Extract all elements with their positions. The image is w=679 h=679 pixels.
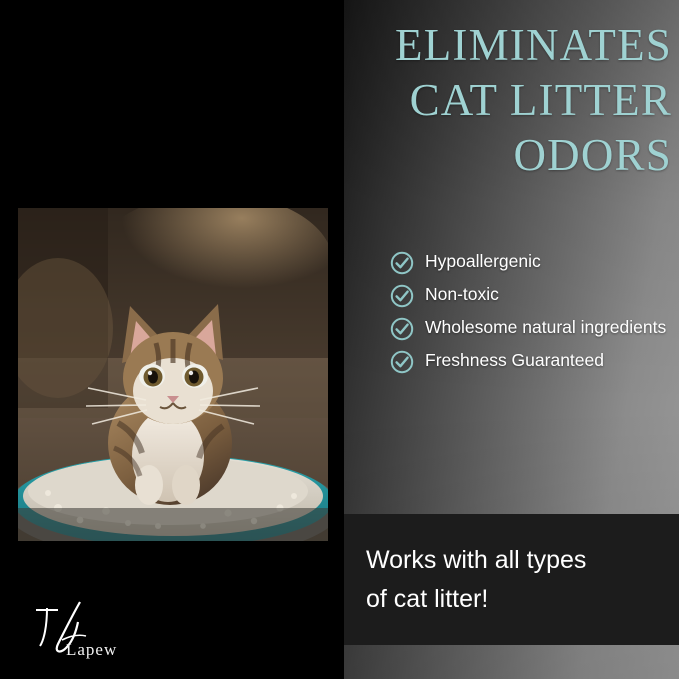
headline-line-1: ELIMINATES xyxy=(300,18,672,73)
advertisement-image: ELIMINATES CAT LITTER ODORS xyxy=(0,0,679,679)
check-circle-icon xyxy=(390,251,414,275)
kitten-photo xyxy=(18,208,328,541)
banner-text: Works with all types of cat litter! xyxy=(344,541,608,619)
list-item-label: Non-toxic xyxy=(425,283,499,306)
headline-line-3: ODORS xyxy=(300,128,672,183)
list-item: Wholesome natural ingredients xyxy=(390,316,670,341)
list-item-label: Freshness Guaranteed xyxy=(425,349,604,372)
banner-line-2: of cat litter! xyxy=(366,580,586,619)
check-circle-icon xyxy=(390,317,414,341)
check-circle-icon xyxy=(390,350,414,374)
list-item-label: Hypoallergenic xyxy=(425,250,541,273)
headline: ELIMINATES CAT LITTER ODORS xyxy=(300,18,672,183)
list-item-label: Wholesome natural ingredients xyxy=(425,316,666,339)
check-circle-icon xyxy=(390,284,414,308)
brand-logo: Lapew xyxy=(28,596,148,666)
bottom-banner: Works with all types of cat litter! xyxy=(344,514,679,645)
banner-line-1: Works with all types xyxy=(366,541,586,580)
list-item: Non-toxic xyxy=(390,283,670,308)
cat-photo-icon xyxy=(18,208,328,541)
headline-line-2: CAT LITTER xyxy=(300,73,672,128)
list-item: Freshness Guaranteed xyxy=(390,349,670,374)
brand-name: Lapew xyxy=(66,640,117,660)
list-item: Hypoallergenic xyxy=(390,250,670,275)
feature-list: Hypoallergenic Non-toxic Wholesome natur… xyxy=(390,250,670,382)
